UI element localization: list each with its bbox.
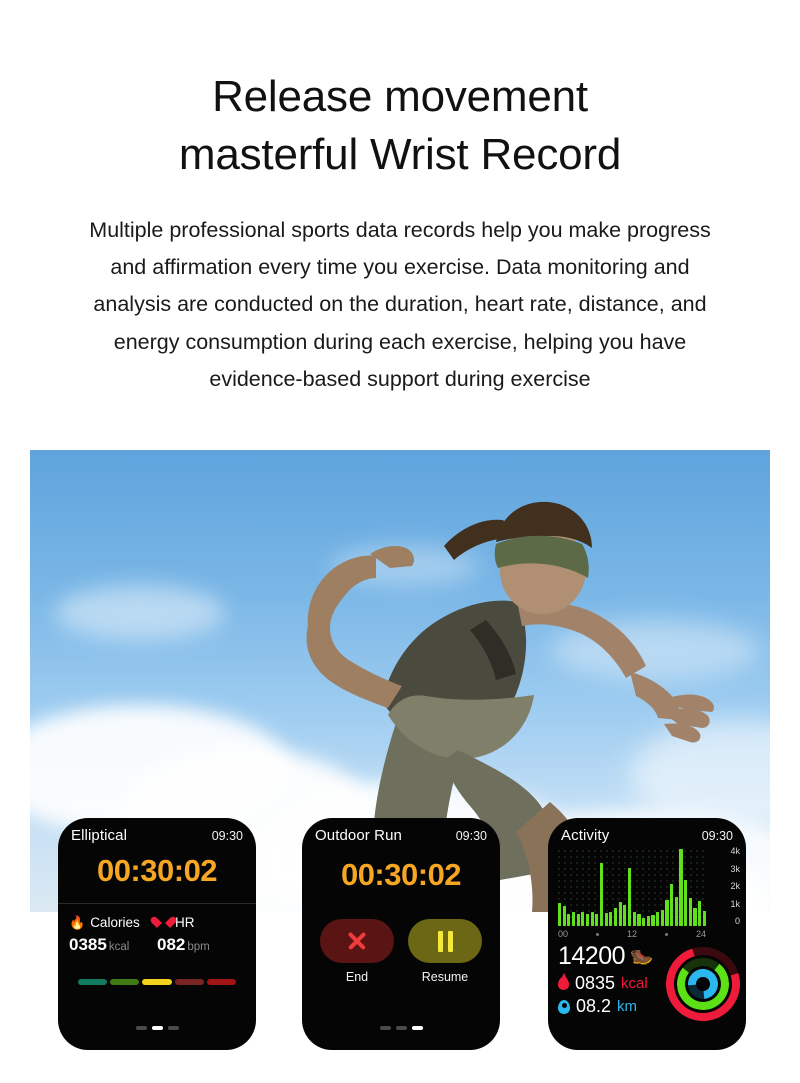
page-indicator[interactable] [58,1026,256,1030]
flame-icon: 🔥 [69,916,85,929]
chart-y-axis-labels: 4k3k2k1k0 [710,846,740,926]
hr-value: 082 [157,935,185,954]
description-line-5: evidence-based support during exercise [40,361,760,398]
chart-x-axis-labels: 001224 [556,928,708,940]
page-dot[interactable] [396,1026,407,1030]
description-line-1: Multiple professional sports data record… [40,212,760,249]
chart-bar [619,902,622,926]
page-dot-active[interactable] [412,1026,423,1030]
chart-x-tick-dot [596,933,599,936]
watch-header: Elliptical 09:30 [58,818,256,844]
watch-card-activity: Activity 09:30 4k3k2k1k0 001224 14200 🥾 … [548,818,746,1050]
chart-bar [651,915,654,926]
watch-clock: 09:30 [702,829,733,843]
chart-x-tick: 12 [627,929,637,939]
calories-value: 0385 [69,935,107,954]
chart-bar [623,905,626,926]
metric-label: HR [175,915,195,930]
chart-y-tick: 1k [710,899,740,909]
chart-bar [558,903,561,926]
chart-bar [595,914,598,926]
end-button[interactable] [320,919,394,963]
calories-value: 0835 [575,973,615,994]
elapsed-timer: 00:30:02 [58,853,256,889]
description-line-4: energy consumption during each exercise,… [40,324,760,361]
resume-button[interactable] [408,919,482,963]
chart-bar [675,897,678,926]
blood-drop-icon [558,977,569,990]
marketing-page: Release movement masterful Wrist Record … [0,0,800,1083]
pause-icon [438,931,453,952]
close-icon [346,930,368,952]
chart-bar [591,912,594,926]
page-dot[interactable] [136,1026,147,1030]
end-action[interactable]: End [320,919,394,984]
watch-title: Elliptical [71,827,127,844]
metric-header: 🔥 Calories [69,915,157,930]
activity-bar-chart: 4k3k2k1k0 001224 [556,848,740,940]
metrics-row: 🔥 Calories 0385kcal HR 082bpm [58,904,256,955]
heart-icon [157,917,170,929]
metric-value: 082bpm [157,935,245,955]
watch-card-elliptical: Elliptical 09:30 00:30:02 🔥 Calories 038… [58,818,256,1050]
chart-y-tick: 0 [710,916,740,926]
watch-title: Outdoor Run [315,827,402,844]
chart-bar [637,914,640,926]
chart-bar [572,912,575,926]
chart-bar [670,884,673,926]
zone-segment-1 [78,979,107,985]
chart-x-tick: 24 [696,929,706,939]
chart-bar [614,908,617,926]
hr-unit: bpm [187,941,209,953]
chart-bar [679,849,682,926]
headline-line-2: masterful Wrist Record [0,126,800,184]
calories-unit: kcal [621,975,648,992]
chart-bar [628,868,631,926]
end-button-label: End [320,970,394,984]
chart-bar [609,912,612,926]
chart-bar [600,863,603,926]
description-line-2: and affirmation every time you exercise.… [40,249,760,286]
chart-plot-area [556,848,708,926]
resume-button-label: Resume [408,970,482,984]
chart-bar [703,911,706,926]
chart-bar [605,913,608,926]
chart-bar [586,914,589,926]
metric-label: Calories [90,915,140,930]
watch-header: Outdoor Run 09:30 [302,818,500,844]
location-pin-icon [558,1000,570,1014]
description-line-3: analysis are conducted on the duration, … [40,286,760,323]
watch-clock: 09:30 [456,829,487,843]
step-count: 14200 [558,942,625,971]
chart-bar [567,914,570,926]
zone-segment-3 [142,979,171,985]
watch-card-outdoor-run: Outdoor Run 09:30 00:30:02 End Resume [302,818,500,1050]
chart-bar [698,901,701,926]
heart-rate-zone-bar [58,979,256,985]
action-buttons: End Resume [302,919,500,984]
zone-segment-2 [110,979,139,985]
metric-value: 0385kcal [69,935,157,955]
watch-header: Activity 09:30 [548,818,746,844]
zone-segment-4 [175,979,204,985]
chart-bars [558,848,706,926]
chart-bar [581,912,584,926]
chart-x-tick: 00 [558,929,568,939]
chart-bar [689,898,692,926]
chart-bar [577,914,580,926]
page-title: Release movement masterful Wrist Record [0,68,800,184]
page-dot[interactable] [380,1026,391,1030]
distance-unit: km [617,998,637,1015]
chart-bar [633,912,636,926]
elapsed-timer: 00:30:02 [302,857,500,893]
chart-bar [661,910,664,926]
zone-segment-5 [207,979,236,985]
page-dot-active[interactable] [152,1026,163,1030]
chart-bar [656,912,659,926]
metric-calories[interactable]: 🔥 Calories 0385kcal [69,915,157,955]
metric-header: HR [157,915,245,930]
activity-rings [666,947,740,1021]
chart-bar [647,916,650,926]
chart-y-tick: 2k [710,881,740,891]
chart-y-tick: 3k [710,864,740,874]
metric-heart-rate[interactable]: HR 082bpm [157,915,245,955]
chart-bar [665,900,668,926]
distance-value: 08.2 [576,996,611,1017]
watch-title: Activity [561,827,609,844]
watch-clock: 09:30 [212,829,243,843]
chart-bar [642,918,645,926]
chart-bar [563,906,566,926]
chart-bar [684,880,687,926]
chart-y-tick: 4k [710,846,740,856]
resume-action[interactable]: Resume [408,919,482,984]
shoe-icon: 🥾 [628,944,654,969]
calories-unit: kcal [109,941,129,953]
page-indicator[interactable] [302,1026,500,1030]
chart-bar [693,908,696,926]
activity-stats: 14200 🥾 0835 kcal 08.2 km [548,942,746,1017]
page-dot[interactable] [168,1026,179,1030]
headline-line-1: Release movement [212,72,588,121]
chart-x-tick-dot [665,933,668,936]
description-paragraph: Multiple professional sports data record… [40,212,760,398]
